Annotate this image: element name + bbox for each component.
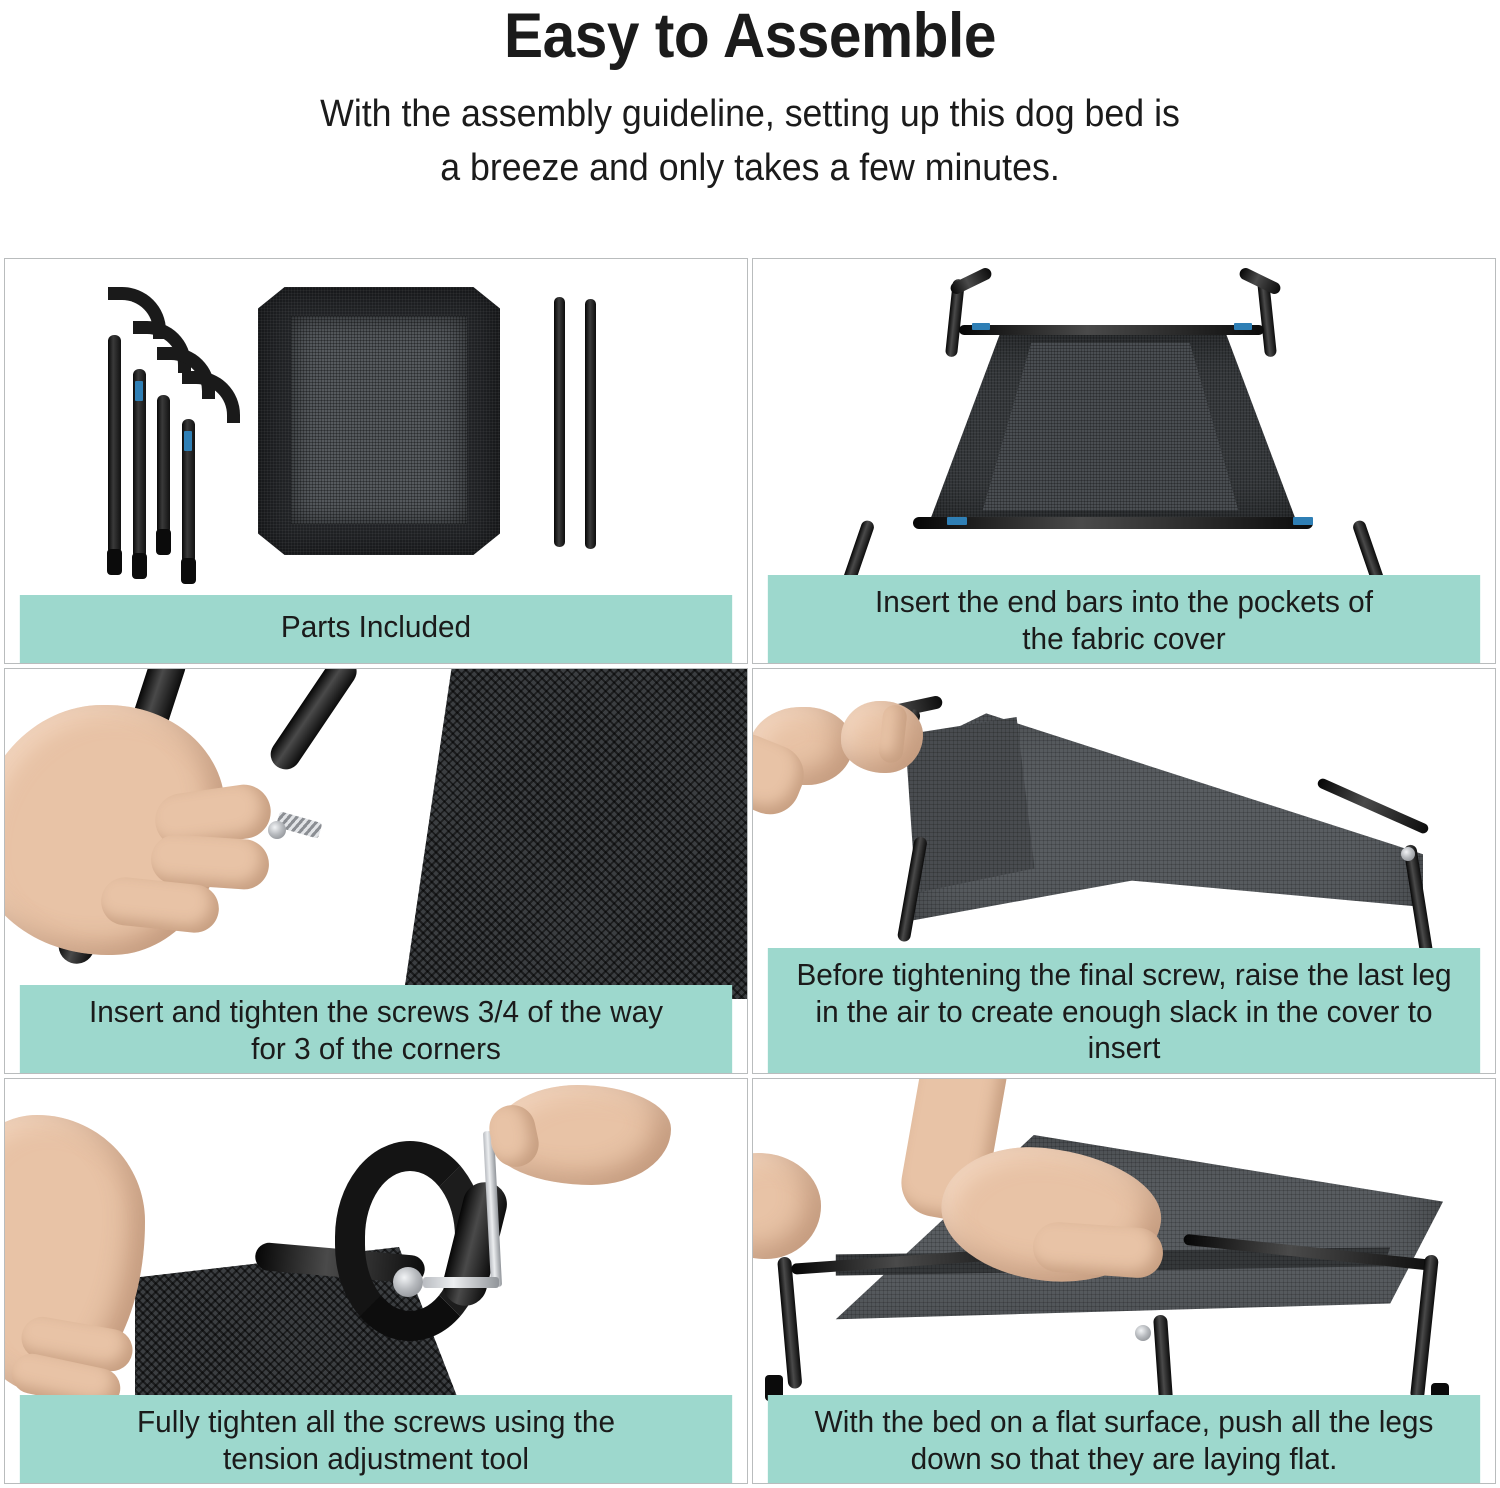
screw-head (268, 821, 286, 839)
caption-line: Fully tighten all the screws using the (137, 1404, 615, 1439)
step-panel-tighten-three-corners: Insert and tighten the screws 3/4 of the… (4, 668, 748, 1074)
blue-label-bottom-left (947, 517, 967, 525)
caption-line: Before tightening the final screw, raise… (796, 957, 1451, 992)
caption-fully-tighten-screws: Fully tighten all the screws using the t… (20, 1395, 732, 1483)
corner-screw-head (1401, 847, 1415, 861)
blue-label-top-right (1234, 323, 1252, 330)
step-panel-push-legs-flat: With the bed on a flat surface, push all… (752, 1078, 1496, 1484)
blue-label-bottom-right (1293, 517, 1313, 525)
bed-leg-rear-right (1410, 1254, 1439, 1401)
caption-line: Insert the end bars into the pockets of (875, 584, 1373, 619)
step-panel-insert-end-bars: Insert the end bars into the pockets of … (752, 258, 1496, 664)
bed-leg-front-left (777, 1256, 802, 1389)
step-panel-parts-included: Parts Included (4, 258, 748, 664)
caption-line: the final bar. Now you may tighten all t… (801, 1067, 1446, 1074)
caption-line: Parts Included (281, 609, 471, 644)
page-subtitle: With the assembly guideline, setting up … (45, 88, 1455, 196)
caption-line: for 3 of the corners (251, 1031, 501, 1066)
caption-line: in the air to create enough slack in the… (815, 994, 1432, 1066)
fabric-cover-mesh-center (291, 316, 467, 524)
hex-key-horizontal-arm (423, 1277, 499, 1288)
page-subtitle-line-2: a breeze and only takes a few minutes. (440, 147, 1060, 189)
hand-supporting-edge (753, 1153, 821, 1259)
step-panel-raise-last-leg: Before tightening the final screw, raise… (752, 668, 1496, 1074)
end-bar-part-2 (585, 299, 596, 549)
bed-corner-screw (1135, 1325, 1151, 1341)
header: Easy to Assemble With the assembly guide… (0, 0, 1500, 196)
step-panel-fully-tighten-screws: Fully tighten all the screws using the t… (4, 1078, 748, 1484)
caption-tighten-three-corners: Insert and tighten the screws 3/4 of the… (20, 985, 732, 1073)
caption-parts-included: Parts Included (20, 595, 732, 663)
corner-tube-cross (265, 669, 363, 775)
caption-line: With the bed on a flat surface, push all… (815, 1404, 1434, 1439)
caption-line: Insert and tighten the screws 3/4 of the… (89, 994, 663, 1029)
pressing-fingertips (1031, 1221, 1164, 1280)
end-bar-top (959, 325, 1264, 335)
caption-raise-last-leg: Before tightening the final screw, raise… (768, 948, 1480, 1073)
page-title: Easy to Assemble (53, 2, 1448, 70)
blue-label-top-left (972, 323, 990, 330)
caption-push-legs-flat: With the bed on a flat surface, push all… (768, 1395, 1480, 1483)
caption-insert-end-bars: Insert the end bars into the pockets of … (768, 575, 1480, 663)
end-bar-bottom (913, 517, 1313, 529)
mesh-fabric-closeup (403, 669, 747, 999)
page-subtitle-line-1: With the assembly guideline, setting up … (320, 93, 1180, 135)
caption-line: down so that they are laying flat. (911, 1441, 1338, 1476)
assembly-step-grid: Parts Included (4, 258, 1496, 1484)
tension-screw-head (393, 1267, 423, 1297)
end-bar-part-1 (554, 297, 565, 547)
caption-line: tension adjustment tool (223, 1441, 529, 1476)
caption-line: the fabric cover (1022, 621, 1225, 656)
